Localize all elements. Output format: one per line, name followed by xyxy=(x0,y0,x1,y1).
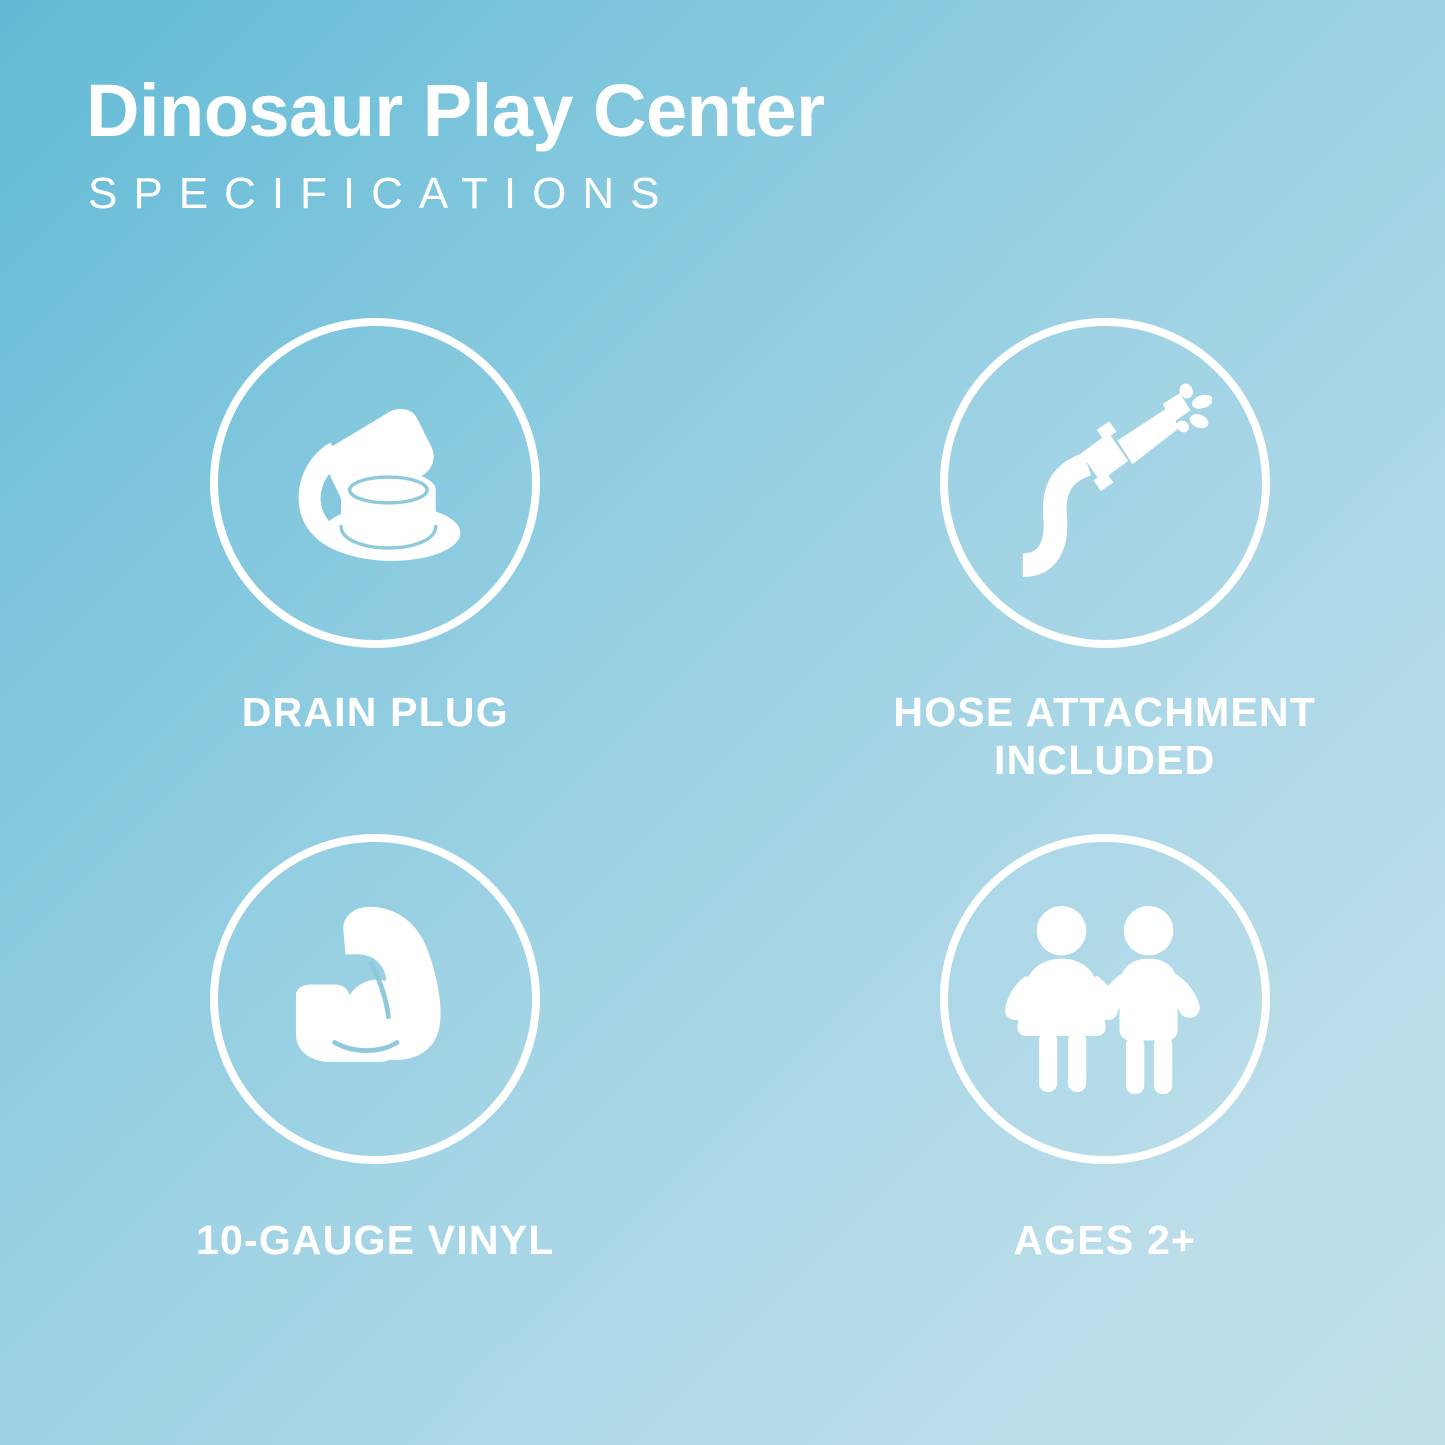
flexed-bicep-icon xyxy=(268,892,483,1107)
spec-item-vinyl-gauge: 10-GAUGE VINYL xyxy=(0,834,723,1350)
header: Dinosaur Play Center SPECIFICATIONS xyxy=(86,72,1286,216)
specifications-infographic: Dinosaur Play Center SPECIFICATIONS xyxy=(0,0,1445,1445)
spec-label-drain-plug: DRAIN PLUG xyxy=(242,688,509,736)
icon-circle-ages xyxy=(940,834,1270,1164)
spec-label-hose-attachment: HOSE ATTACHMENT INCLUDED xyxy=(893,688,1316,785)
spec-label-ages: AGES 2+ xyxy=(1013,1216,1196,1264)
spec-grid: DRAIN PLUG xyxy=(0,318,1445,1350)
spec-label-vinyl-gauge: 10-GAUGE VINYL xyxy=(196,1216,555,1264)
page-title: Dinosaur Play Center xyxy=(86,72,1286,150)
page-subtitle: SPECIFICATIONS xyxy=(88,172,1286,216)
icon-circle-hose-attachment xyxy=(940,318,1270,648)
spec-item-drain-plug: DRAIN PLUG xyxy=(0,318,723,834)
icon-circle-drain-plug xyxy=(210,318,540,648)
hose-nozzle-icon xyxy=(997,376,1212,591)
icon-circle-vinyl-gauge xyxy=(210,834,540,1164)
spec-item-hose-attachment: HOSE ATTACHMENT INCLUDED xyxy=(723,318,1445,834)
drain-plug-icon xyxy=(268,376,483,591)
spec-item-ages: AGES 2+ xyxy=(723,834,1445,1350)
two-children-icon xyxy=(997,892,1212,1107)
